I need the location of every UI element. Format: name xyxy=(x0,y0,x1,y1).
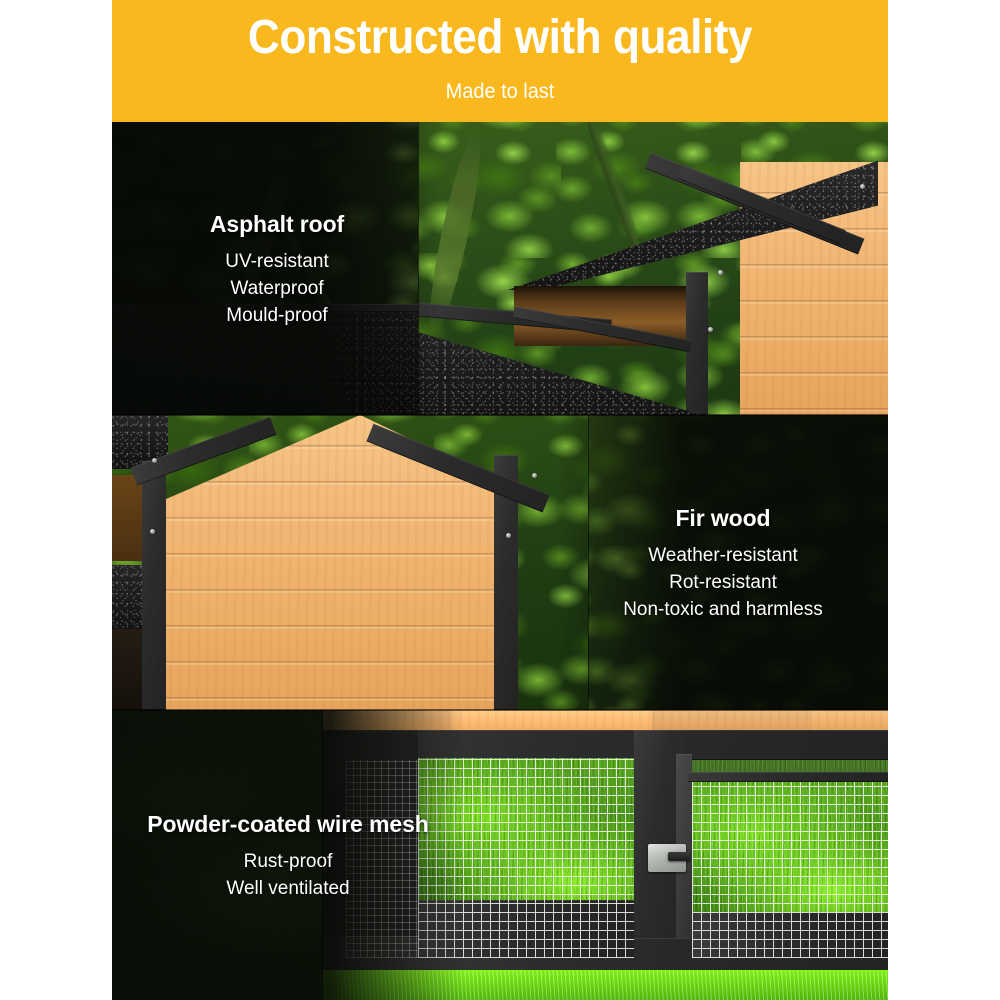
page-subtitle: Made to last xyxy=(131,79,868,105)
feature-bullet: UV-resistant xyxy=(225,248,328,275)
screw-icon xyxy=(150,529,155,534)
mesh-panel-right[interactable] xyxy=(692,780,888,958)
feature-block-asphalt-roof: Asphalt roof UV-resistant Waterproof Mou… xyxy=(112,122,888,415)
feature-bullet: Rust-proof xyxy=(226,848,349,875)
feature-bullet: Waterproof xyxy=(225,275,328,302)
feature-bullet: Non-toxic and harmless xyxy=(623,596,823,623)
feature-bullet: Mould-proof xyxy=(225,302,328,329)
cell-divider xyxy=(588,415,589,710)
page-title: Constructed with quality xyxy=(143,10,857,66)
feature-title-wire-mesh: Powder-coated wire mesh xyxy=(147,809,428,839)
cell-divider xyxy=(418,122,419,415)
feature-bullet: Well ventilated xyxy=(226,875,349,902)
asphalt-roof-text-panel: Asphalt roof UV-resistant Waterproof Mou… xyxy=(112,122,442,415)
fir-wood-photo xyxy=(112,415,588,710)
side-wood-sliver xyxy=(112,475,146,561)
screw-icon xyxy=(152,458,157,463)
screw-icon xyxy=(532,473,537,478)
feature-bullets-asphalt-roof: UV-resistant Waterproof Mould-proof xyxy=(225,248,328,329)
roof-closeup-photo xyxy=(418,122,888,415)
feature-bullet: Rot-resistant xyxy=(623,569,823,596)
feature-grid: Asphalt roof UV-resistant Waterproof Mou… xyxy=(112,122,888,1000)
cell-divider xyxy=(322,710,323,1000)
fir-wood-text-panel: Fir wood Weather-resistant Rot-resistant… xyxy=(558,415,888,710)
feature-block-wire-mesh: Powder-coated wire mesh Rust-proof Well … xyxy=(112,710,888,1000)
wire-mesh-text-panel: Powder-coated wire mesh Rust-proof Well … xyxy=(112,710,464,1000)
feature-title-asphalt-roof: Asphalt roof xyxy=(210,209,344,239)
feature-title-fir-wood: Fir wood xyxy=(675,503,770,533)
row-divider xyxy=(112,414,888,416)
screw-icon xyxy=(506,533,511,538)
top-wood-plank xyxy=(450,710,670,732)
left-post xyxy=(142,461,166,710)
header-banner: Constructed with quality Made to last xyxy=(112,0,888,122)
feature-bullets-fir-wood: Weather-resistant Rot-resistant Non-toxi… xyxy=(623,542,823,623)
top-wood-plank xyxy=(652,710,812,732)
right-door-top-rail xyxy=(688,772,888,782)
feature-block-fir-wood: Fir wood Weather-resistant Rot-resistant… xyxy=(112,415,888,710)
wood-gable-photo xyxy=(112,415,588,710)
screw-icon xyxy=(860,184,865,189)
screw-icon xyxy=(718,270,723,275)
screw-icon xyxy=(708,327,713,332)
feature-bullet: Weather-resistant xyxy=(623,542,823,569)
row-divider xyxy=(112,709,888,711)
asphalt-roof-photo-right xyxy=(418,122,888,415)
latch-bolt xyxy=(668,852,690,861)
feature-bullets-wire-mesh: Rust-proof Well ventilated xyxy=(226,848,349,902)
infographic-page: Constructed with quality Made to last xyxy=(0,0,1000,1000)
